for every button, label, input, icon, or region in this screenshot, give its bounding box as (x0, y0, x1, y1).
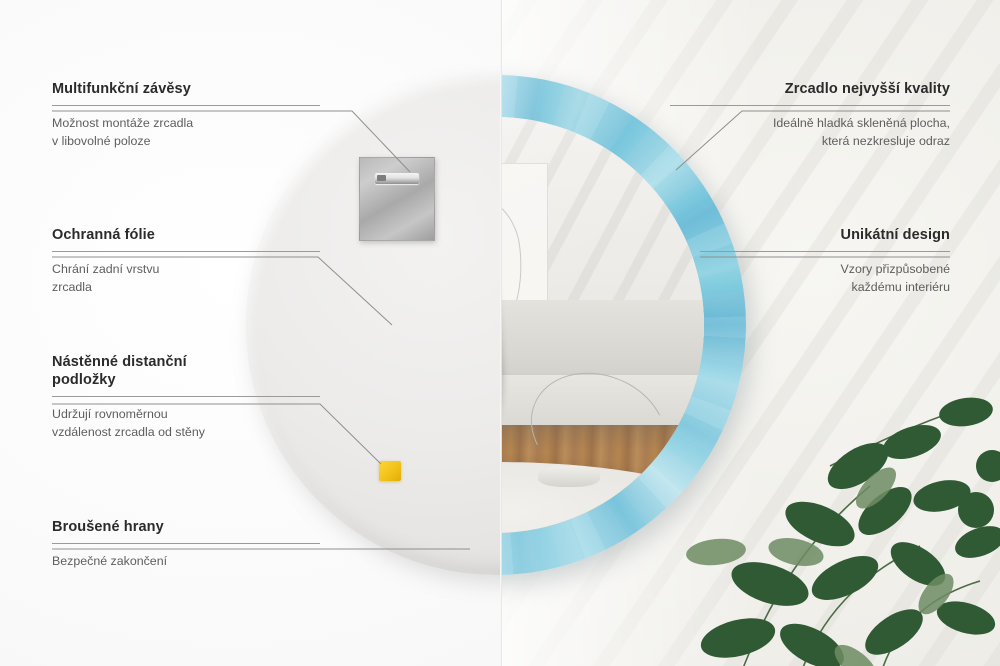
callout-multifunkcni-zavesy: Multifunkční závěsy Možnost montáže zrca… (52, 80, 320, 150)
callout-rule (52, 105, 320, 106)
callout-title: Multifunkční závěsy (52, 80, 320, 98)
callout-title: Ochranná fólie (52, 226, 320, 244)
mirror-glass-sheen (501, 117, 704, 533)
callout-description: Chrání zadní vrstvuzrcadla (52, 261, 320, 296)
callout-nastenne-distancni-podlozky: Nástěnné distančnípodložky Udržují rovno… (52, 353, 320, 441)
callout-rule (52, 251, 320, 252)
callout-title: Broušené hrany (52, 518, 320, 536)
hanger-plate (359, 157, 435, 241)
callout-brousene-hrany: Broušené hrany Bezpečné zakončení (52, 518, 320, 571)
callout-ochranna-folie: Ochranná fólie Chrání zadní vrstvuzrcadl… (52, 226, 320, 296)
callout-rule (52, 396, 320, 397)
callout-rule (700, 251, 950, 252)
callout-title: Zrcadlo nejvyšší kvality (670, 80, 950, 98)
hanger-slot (375, 173, 419, 184)
panel-seam (500, 0, 502, 666)
infographic-canvas: Multifunkční závěsy Možnost montáže zrca… (0, 0, 1000, 666)
callout-rule (52, 543, 320, 544)
callout-title: Nástěnné distančnípodložky (52, 353, 320, 389)
callout-description: Ideálně hladká skleněná plocha,která nez… (670, 115, 950, 150)
callout-description: Bezpečné zakončení (52, 553, 320, 571)
callout-description: Možnost montáže zrcadlav libovolné poloz… (52, 115, 320, 150)
spacer-pad (379, 461, 401, 481)
mirror-glass (501, 117, 704, 533)
callout-unikatni-design: Unikátní design Vzory přizpůsobenékaždém… (700, 226, 950, 296)
callout-title: Unikátní design (700, 226, 950, 244)
callout-zrcadlo-nejvyssi-kvality: Zrcadlo nejvyšší kvality Ideálně hladká … (670, 80, 950, 150)
callout-rule (670, 105, 950, 106)
callout-description: Vzory přizpůsobenékaždému interiéru (700, 261, 950, 296)
callout-description: Udržují rovnoměrnouvzdálenost zrcadla od… (52, 406, 320, 441)
